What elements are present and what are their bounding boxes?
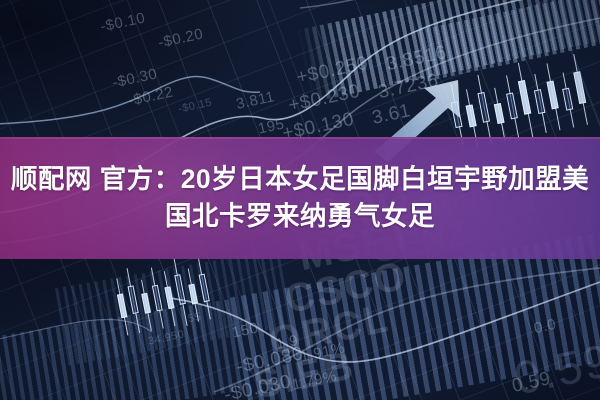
- news-banner: +$0.2503.8516+$0.2303.7236+$0.1303.61-$0…: [0, 0, 600, 400]
- price-ticker-t23: 0.0: [532, 316, 557, 337]
- headline-text-block: 顺配网 官方：20岁日本女足国脚白垣宇野加盟美 国北卡罗来纳勇气女足: [0, 137, 600, 259]
- price-ticker-t1: +$0.250: [295, 53, 371, 90]
- price-ticker-t13: -$0.10: [99, 9, 147, 35]
- headline-line-2: 国北卡罗来纳勇气女足: [165, 201, 435, 232]
- price-ticker-t2: 3.8516: [384, 42, 448, 76]
- price-ticker-t11: 3.811: [235, 88, 277, 113]
- price-ticker-t17: -$0.15: [177, 97, 213, 116]
- headline-line-1: 顺配网 官方：20岁日本女足国脚白垣宇野加盟美: [11, 164, 589, 195]
- price-ticker-t6: 3.61: [370, 100, 413, 130]
- price-ticker-t21: 55: [187, 311, 202, 325]
- price-ticker-t18: 150: [231, 319, 260, 341]
- price-ticker-t20: 34.950: [147, 328, 185, 347]
- price-ticker-t4: 3.7236: [376, 70, 440, 104]
- price-ticker-t14: -$0.20: [157, 25, 205, 51]
- price-ticker-t12: 195: [257, 115, 286, 137]
